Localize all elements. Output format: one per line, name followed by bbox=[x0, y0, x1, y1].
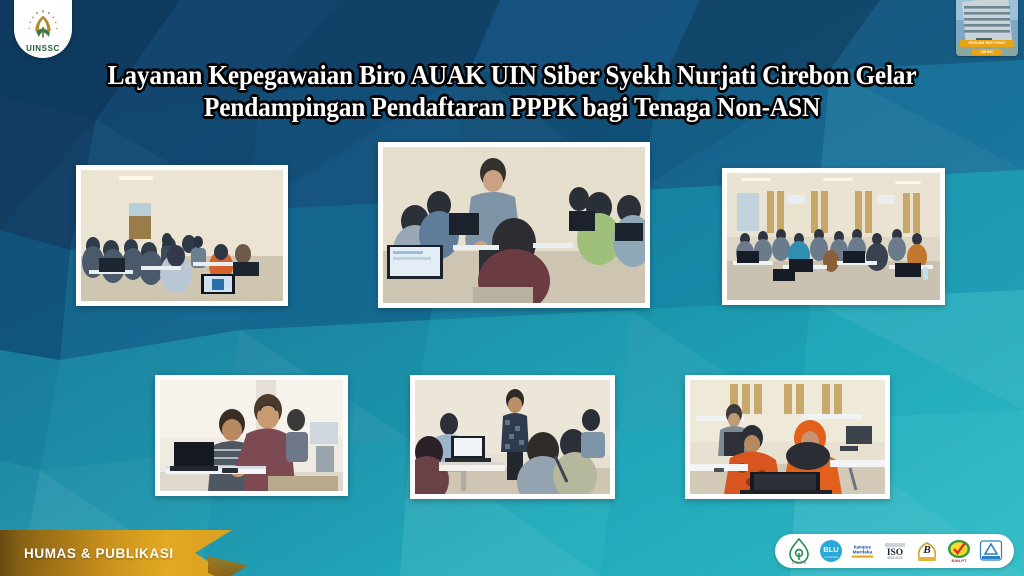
photo-bottom-left-image bbox=[160, 380, 343, 491]
photo-bottom-center bbox=[410, 375, 615, 499]
svg-text:B: B bbox=[922, 544, 930, 556]
poster-headline: Layanan Kepegawaian Biro AUAK UIN Siber … bbox=[52, 60, 972, 124]
photo-top-center-image bbox=[383, 147, 645, 303]
svg-text:Merdeka: Merdeka bbox=[853, 550, 873, 556]
cert-wbk-icon bbox=[977, 538, 1004, 564]
uinssc-logo-badge: UINSSC bbox=[14, 0, 72, 58]
svg-text:BAN-PT: BAN-PT bbox=[951, 558, 967, 563]
headline-line-2: Pendampingan Pendaftaran PPPK bagi Tenag… bbox=[80, 92, 945, 124]
cert-pusaka-icon: pusaka bbox=[785, 538, 812, 564]
photo-top-right-image bbox=[727, 173, 940, 300]
svg-text:9001:2015: 9001:2015 bbox=[887, 556, 902, 560]
poster-canvas: UINSSC GEDUNG REKTORAT UIN SSC Layanan K… bbox=[0, 0, 1024, 576]
cert-iso-icon: ISO 9001:2015 bbox=[881, 538, 908, 564]
photo-bottom-right-image bbox=[690, 380, 885, 494]
headline-line-1: Layanan Kepegawaian Biro AUAK UIN Siber … bbox=[80, 60, 945, 92]
building-caption-primary: GEDUNG REKTORAT bbox=[960, 40, 1014, 47]
building-caption-secondary: UIN SSC bbox=[972, 49, 1002, 55]
photo-top-right bbox=[722, 168, 945, 305]
ribbon-label: HUMAS & PUBLIKASI bbox=[24, 530, 174, 576]
certification-logo-strip: pusaka BLU LAYANAN kampus Merdeka bbox=[775, 534, 1014, 568]
humas-publikasi-ribbon: HUMAS & PUBLIKASI bbox=[0, 530, 232, 576]
photo-bottom-center-image bbox=[415, 380, 610, 494]
photo-top-left-image bbox=[81, 170, 283, 301]
cert-blu-icon: BLU LAYANAN bbox=[817, 538, 844, 564]
svg-text:LAYANAN: LAYANAN bbox=[824, 555, 838, 559]
cert-kampus-merdeka-icon: kampus Merdeka bbox=[849, 538, 876, 564]
uinssc-emblem-icon bbox=[26, 8, 60, 42]
photo-bottom-right bbox=[685, 375, 890, 499]
building-illustration bbox=[956, 0, 1018, 56]
photo-top-left bbox=[76, 165, 288, 306]
photo-top-center bbox=[378, 142, 650, 308]
photo-bottom-left bbox=[155, 375, 348, 496]
building-photo-thumb: GEDUNG REKTORAT UIN SSC bbox=[956, 0, 1018, 56]
svg-text:pusaka: pusaka bbox=[791, 559, 806, 564]
uinssc-logo-wordmark: UINSSC bbox=[26, 44, 60, 53]
cert-ban-pt-icon: BAN-PT bbox=[945, 538, 972, 564]
svg-text:BLU: BLU bbox=[823, 545, 838, 554]
cert-akreditasi-b-icon: B bbox=[913, 538, 940, 564]
svg-text:kampus: kampus bbox=[854, 544, 872, 549]
